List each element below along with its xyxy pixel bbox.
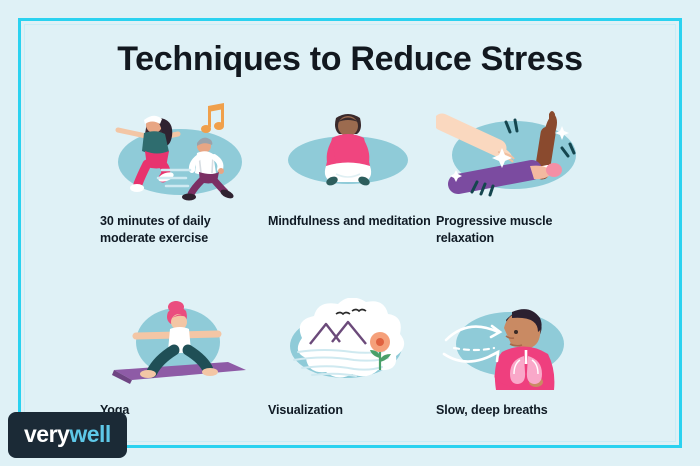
exercise-illustration bbox=[100, 100, 260, 205]
logo-text-well: well bbox=[69, 421, 110, 447]
logo-text-very: very bbox=[24, 421, 69, 447]
verywell-logo: verywell bbox=[8, 412, 127, 458]
technique-item-breathing: Slow, deep breaths bbox=[436, 298, 602, 419]
technique-item-visualization: Visualization bbox=[268, 298, 434, 419]
techniques-row-1: 30 minutes of daily moderate exercise bbox=[100, 100, 620, 246]
technique-item-yoga: Yoga bbox=[100, 298, 266, 419]
page-title: Techniques to Reduce Stress bbox=[0, 40, 700, 79]
visualization-illustration bbox=[268, 298, 428, 390]
pmr-illustration bbox=[436, 100, 596, 205]
mindfulness-illustration bbox=[268, 100, 428, 205]
technique-caption: Slow, deep breaths bbox=[436, 402, 602, 419]
breathing-illustration bbox=[436, 298, 596, 390]
meditating-person bbox=[325, 114, 371, 187]
infographic-poster: Techniques to Reduce Stress bbox=[0, 0, 700, 466]
technique-item-pmr: Progressive muscle relaxation bbox=[436, 100, 602, 246]
technique-caption: Progressive muscle relaxation bbox=[436, 213, 602, 246]
technique-caption: 30 minutes of daily moderate exercise bbox=[100, 213, 266, 246]
techniques-grid: 30 minutes of daily moderate exercise bbox=[100, 100, 620, 419]
music-note-icon bbox=[201, 103, 224, 133]
cloud-scene bbox=[294, 298, 404, 378]
yoga-illustration bbox=[100, 298, 260, 390]
techniques-row-2: Yoga bbox=[100, 298, 620, 419]
technique-caption: Mindfulness and meditation bbox=[268, 213, 434, 230]
technique-item-mindfulness: Mindfulness and meditation bbox=[268, 100, 434, 246]
technique-item-exercise: 30 minutes of daily moderate exercise bbox=[100, 100, 266, 246]
technique-caption: Visualization bbox=[268, 402, 434, 419]
